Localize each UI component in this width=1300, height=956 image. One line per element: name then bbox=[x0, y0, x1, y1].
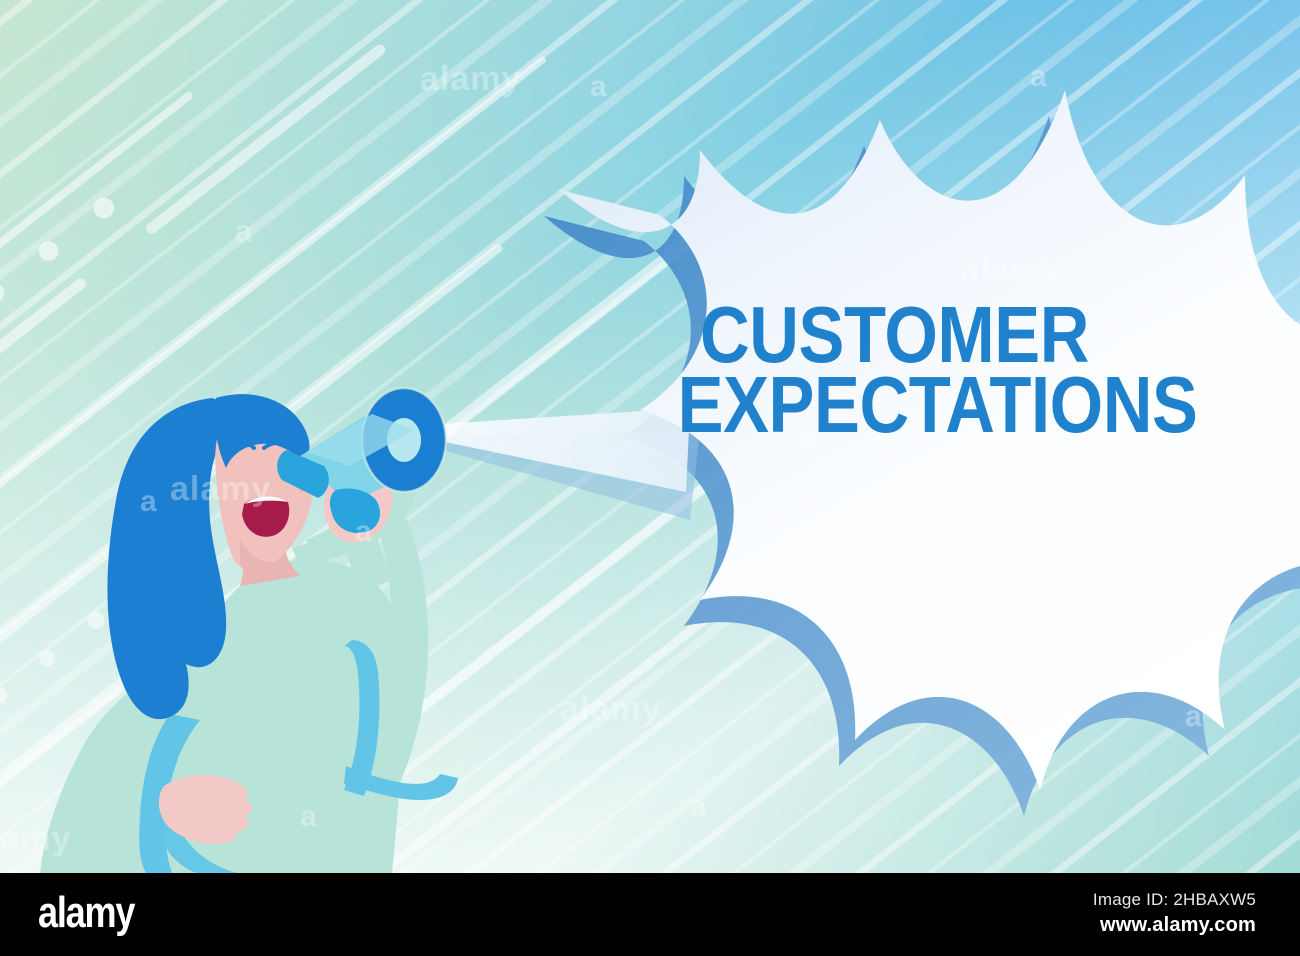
stock-image-canvas: CUSTOMER EXPECTATIONS alamy alamy alamy … bbox=[0, 0, 1300, 956]
alamy-logo[interactable]: alamy bbox=[38, 888, 134, 938]
illustration-area bbox=[0, 0, 1300, 873]
alamy-website-link[interactable]: www.alamy.com bbox=[956, 914, 1256, 937]
image-id-label: Image ID: 2HBAXW5 bbox=[956, 890, 1256, 910]
